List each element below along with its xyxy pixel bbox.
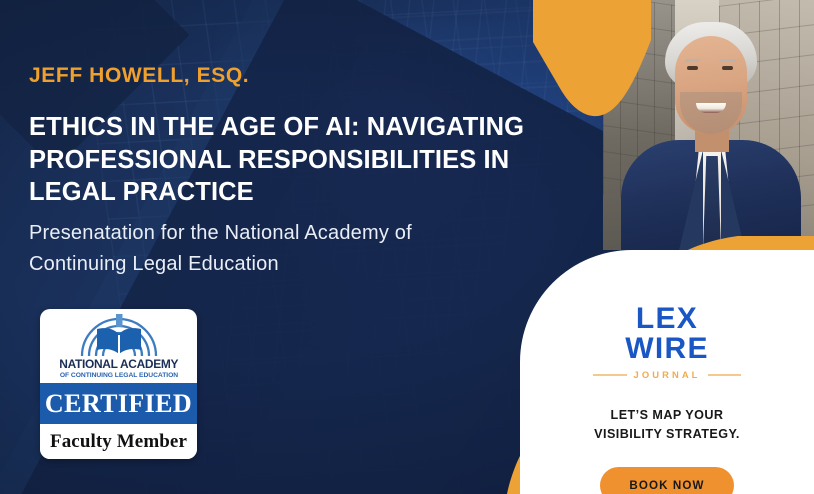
photo-eyebrow-right [720,59,735,62]
photo-eye-right [722,66,733,70]
cta-panel: LEX WIRE JOURNAL LET’S MAP YOUR VISIBILI… [520,250,814,494]
presentation-subtitle-line-2: Continuing Legal Education [29,249,539,280]
photo-eye-left [687,66,698,70]
cta-tagline-line-2: VISIBILITY STRATEGY. [594,425,740,443]
badge-status-band: CERTIFIED [40,383,197,424]
badge-organization-name: NATIONAL ACADEMY [59,359,178,371]
open-book-with-rays-icon [77,314,161,358]
presentation-title: ETHICS IN THE AGE OF AI: NAVIGATING PROF… [29,111,574,209]
logo-subtitle-row: JOURNAL [591,370,743,379]
cta-tagline: LET’S MAP YOUR VISIBILITY STRATEGY. [594,406,740,443]
photo-eyebrow-left [685,59,700,62]
badge-role-footer: Faculty Member [40,424,197,459]
badge-status-label: CERTIFIED [45,389,192,419]
logo-rule-right [708,374,742,376]
logo-primary-text: LEX WIRE [591,304,743,364]
presentation-subtitle: Presenatation for the National Academy o… [29,218,539,280]
book-now-button[interactable]: BOOK NOW [600,467,733,494]
presentation-subtitle-line-1: Presenatation for the National Academy o… [29,218,539,249]
cta-tagline-line-1: LET’S MAP YOUR [594,406,740,424]
speaker-name: JEFF HOWELL, ESQ. [29,64,249,88]
certification-badge: NATIONAL ACADEMY OF CONTINUING LEGAL EDU… [40,309,197,459]
cta-panel-content: LEX WIRE JOURNAL LET’S MAP YOUR VISIBILI… [520,250,814,494]
lex-wire-journal-logo: LEX WIRE JOURNAL [591,304,743,379]
badge-header: NATIONAL ACADEMY OF CONTINUING LEGAL EDU… [40,309,197,383]
badge-role-label: Faculty Member [50,431,187,453]
badge-organization-subtitle: OF CONTINUING LEGAL EDUCATION [59,373,177,380]
logo-rule-left [593,374,627,376]
logo-secondary-text: JOURNAL [634,370,701,379]
speaker-announcement-banner: JEFF HOWELL, ESQ. ETHICS IN THE AGE OF A… [0,0,814,494]
